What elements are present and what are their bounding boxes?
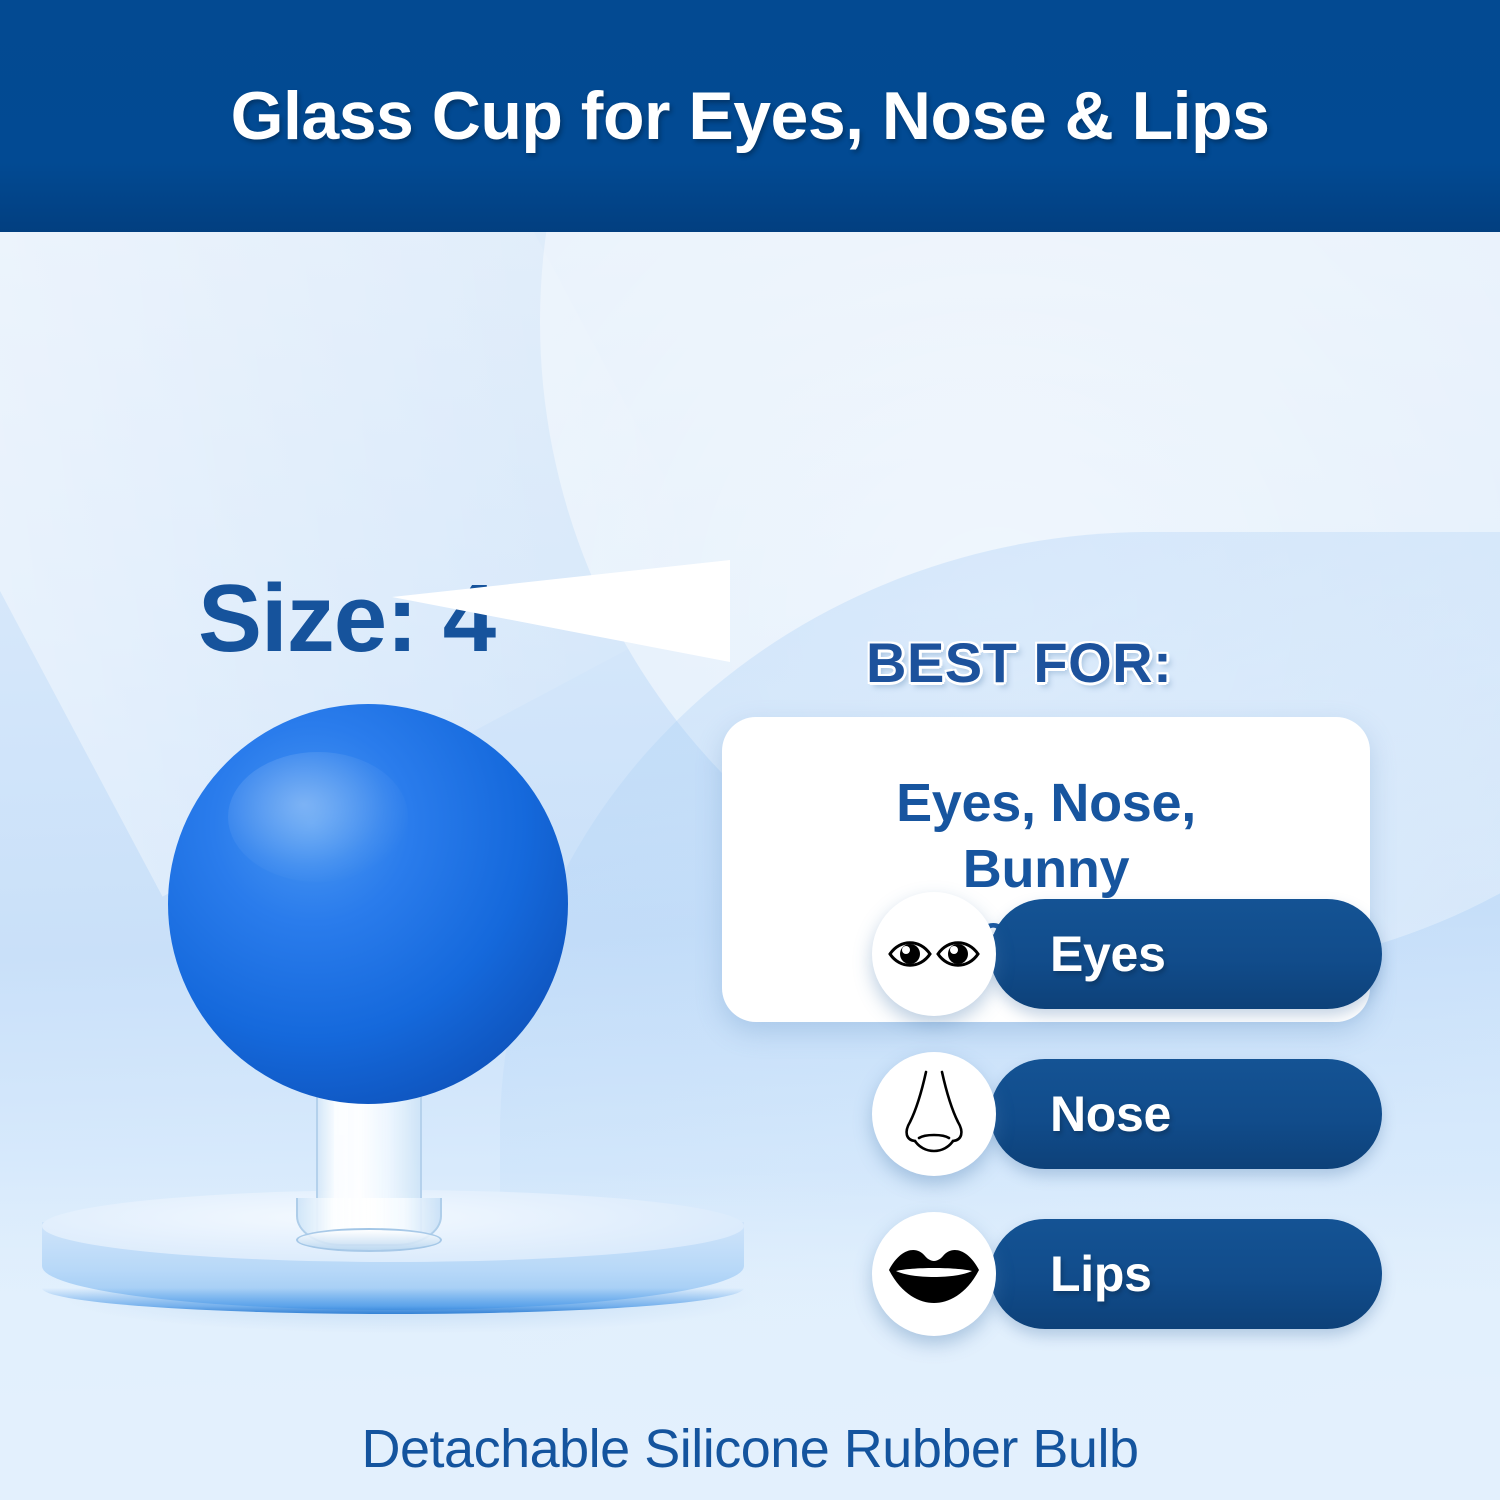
pill-bar bbox=[990, 1059, 1382, 1169]
page-title: Glass Cup for Eyes, Nose & Lips bbox=[231, 77, 1270, 155]
background-stage: Size: 4 BEST FOR: Eyes, Nose, Bunny line… bbox=[0, 232, 1500, 1500]
lips-icon bbox=[886, 1243, 982, 1305]
pill-icon-circle bbox=[872, 1052, 996, 1176]
feature-pill-list: Eyes Nose bbox=[0, 232, 1500, 1500]
pill-bar bbox=[990, 899, 1382, 1009]
eyes-icon bbox=[886, 926, 982, 982]
pill-bar bbox=[990, 1219, 1382, 1329]
nose-icon bbox=[895, 1068, 973, 1160]
product-infographic: Glass Cup for Eyes, Nose & Lips Size: 4 … bbox=[0, 0, 1500, 1500]
pill-icon-circle bbox=[872, 892, 996, 1016]
feature-pill-lips[interactable]: Lips bbox=[872, 1212, 1392, 1336]
feature-pill-eyes[interactable]: Eyes bbox=[872, 892, 1392, 1016]
pill-icon-circle bbox=[872, 1212, 996, 1336]
feature-pill-nose[interactable]: Nose bbox=[872, 1052, 1392, 1176]
pill-label-nose: Nose bbox=[1050, 1059, 1171, 1169]
header-banner: Glass Cup for Eyes, Nose & Lips bbox=[0, 0, 1500, 232]
pill-label-lips: Lips bbox=[1050, 1219, 1152, 1329]
bottom-caption: Detachable Silicone Rubber Bulb bbox=[0, 1418, 1500, 1480]
pill-label-eyes: Eyes bbox=[1050, 899, 1166, 1009]
